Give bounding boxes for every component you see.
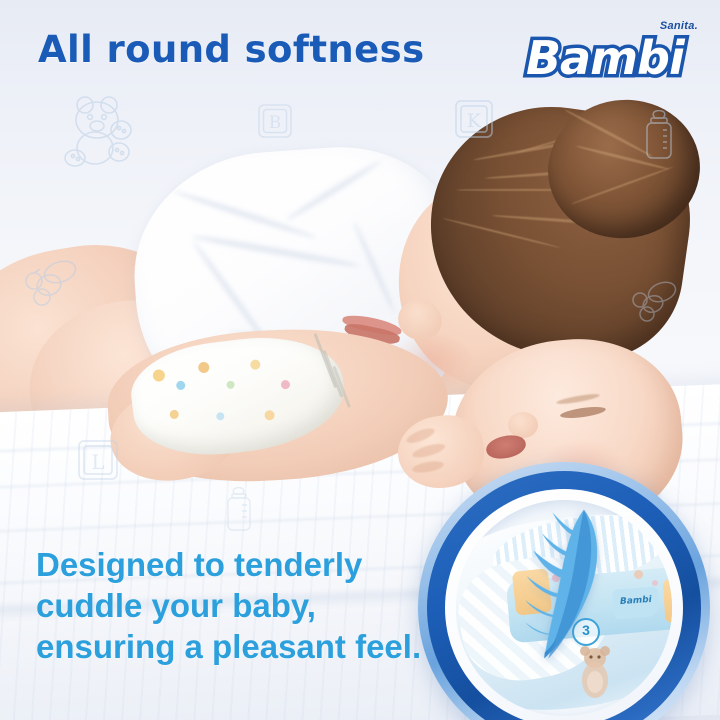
svg-text:L: L (91, 450, 104, 474)
svg-text:K: K (467, 110, 482, 132)
page-title: All round softness (38, 28, 425, 71)
parent-brand-name: Sanita. (660, 20, 698, 32)
product-showcase-circle: Bambi 3 (418, 462, 718, 720)
pacifier-icon (628, 278, 680, 326)
baby-bottle-icon (222, 487, 256, 533)
brand-logo: Bambi Bambi Sanita. (522, 22, 702, 84)
letter-block-l-icon: L (78, 440, 118, 480)
baby-bottle-icon (640, 110, 678, 162)
baby-nose (508, 412, 538, 438)
letter-block-b-icon: B (258, 104, 292, 138)
letter-block-k-icon: K (455, 100, 493, 138)
tagline: Designed to tenderly cuddle your baby, e… (36, 544, 421, 667)
tagline-line-3: ensuring a pleasant feel. (36, 626, 421, 667)
brand-name: Bambi (526, 31, 686, 85)
svg-text:B: B (269, 113, 282, 133)
tagline-line-2: cuddle your baby, (36, 585, 421, 626)
feather-icon (500, 500, 628, 669)
product-image-area: Bambi 3 (456, 500, 672, 716)
tagline-line-1: Designed to tenderly (36, 544, 421, 585)
teddy-bear-icon (55, 90, 141, 176)
advertisement-banner: B K L (0, 0, 720, 720)
pacifier-icon (20, 255, 80, 311)
